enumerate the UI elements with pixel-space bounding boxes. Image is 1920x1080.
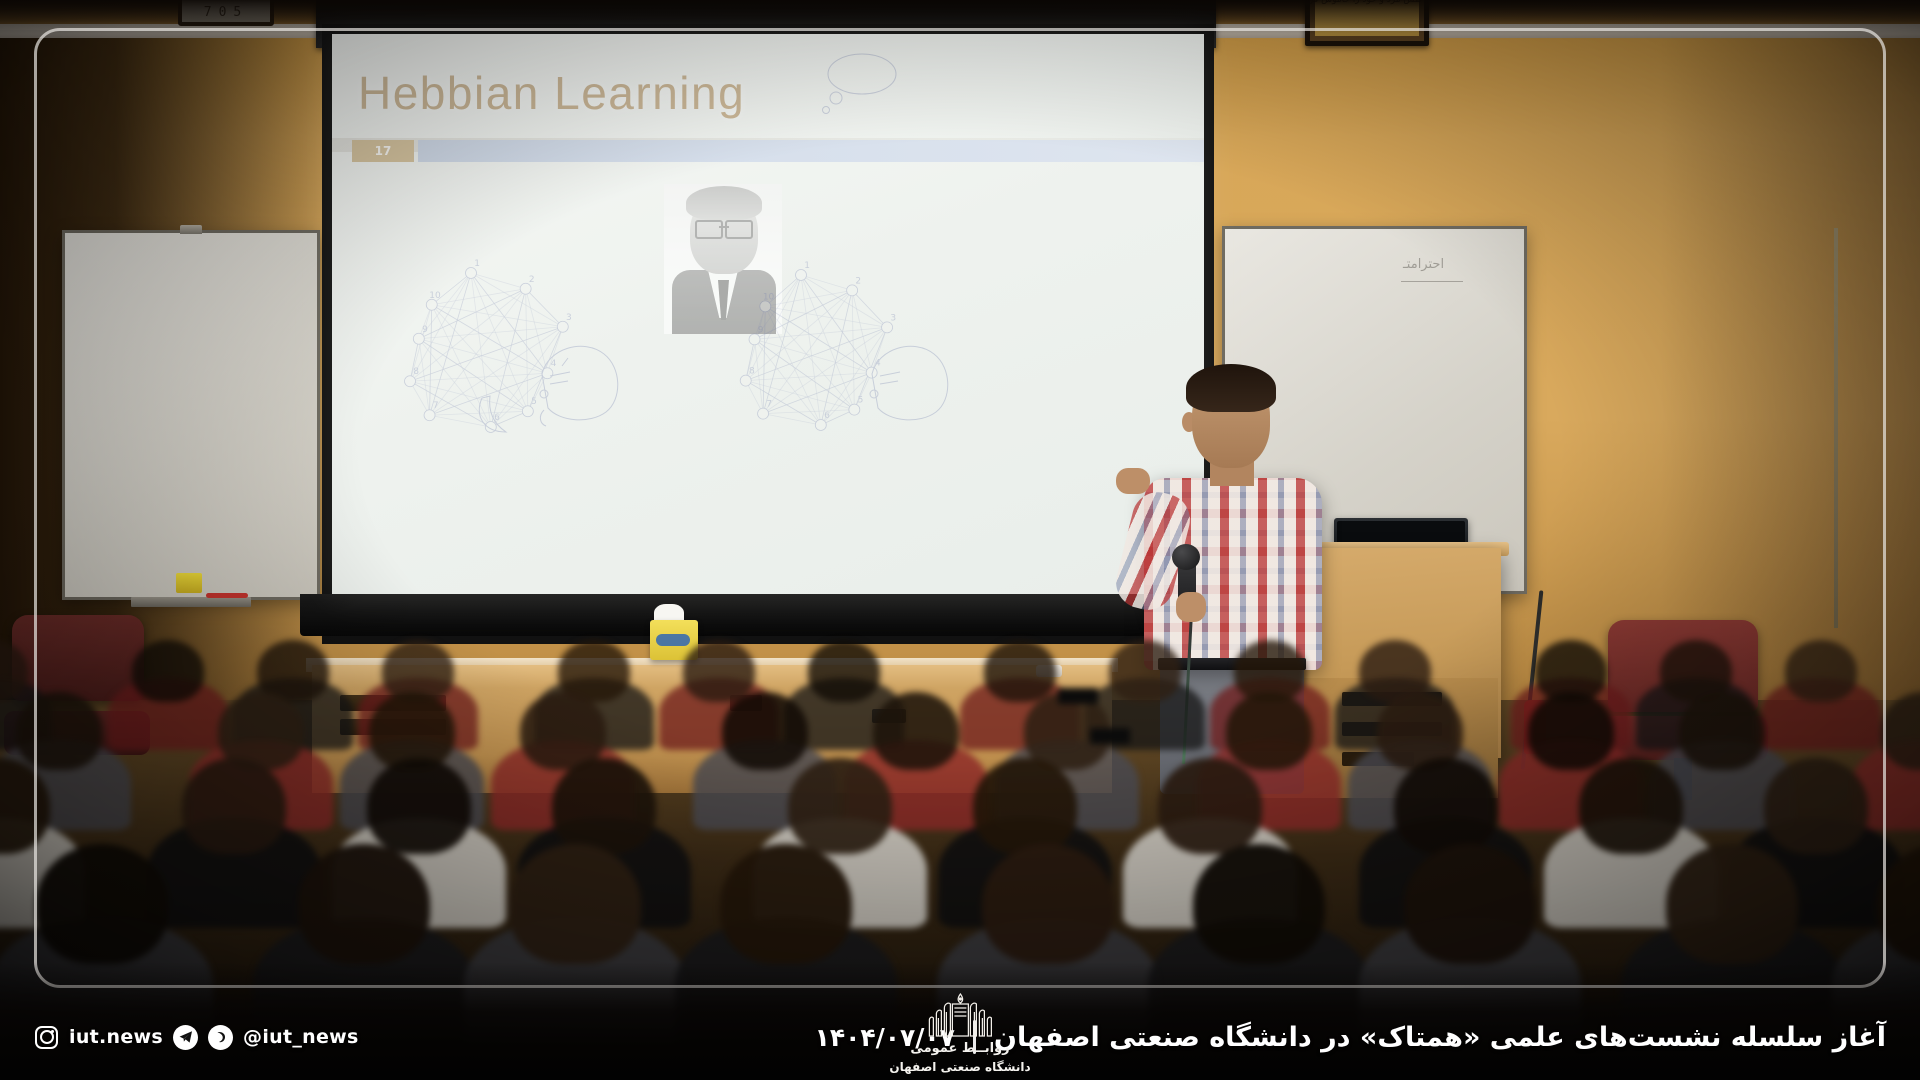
audience-head xyxy=(298,844,430,964)
svg-text:9: 9 xyxy=(422,325,428,335)
network-left: 12345678910 xyxy=(405,259,572,433)
telegram-glyph xyxy=(178,1029,194,1045)
svg-text:1: 1 xyxy=(804,261,810,271)
svg-text:7: 7 xyxy=(766,400,772,410)
svg-text:3: 3 xyxy=(890,313,896,323)
svg-text:8: 8 xyxy=(749,367,755,377)
audience-head xyxy=(1579,758,1683,854)
audience-head xyxy=(1394,758,1498,854)
gateway-svg xyxy=(924,992,996,1038)
neural-network-diagrams: 12345678910 12345678910 xyxy=(332,34,1204,594)
audience-head xyxy=(1528,692,1614,770)
audience-head xyxy=(984,640,1056,702)
iut-gateway-icon xyxy=(924,992,996,1038)
slide-surface: Hebbian Learning 17 xyxy=(332,34,1204,594)
wall-clock-icon: 705 xyxy=(178,0,274,26)
audience-head xyxy=(720,844,852,964)
caption-headline: آغاز سلسله نشست‌های علمی «همتاک» در دانش… xyxy=(994,1022,1886,1053)
svg-text:4: 4 xyxy=(551,359,557,369)
plaque-inner: ادب نفس مرد و خود را خاموش فرماید xyxy=(1315,0,1419,36)
logo-line-2: دانشگاه صنعتی اصفهان xyxy=(889,1060,1030,1074)
logo-line-1: روابــط عمومی xyxy=(910,1041,1009,1056)
caption-bar: آغاز سلسله نشست‌های علمی «همتاک» در دانش… xyxy=(0,994,1920,1080)
audience-head xyxy=(132,640,204,702)
audience-head xyxy=(683,640,755,702)
audience-head xyxy=(509,844,641,964)
audience-head xyxy=(552,758,656,854)
whiteboard-note-underline xyxy=(1401,281,1463,282)
audience-head xyxy=(808,640,880,702)
public-relations-logo: روابــط عمومی دانشگاه صنعتی اصفهان xyxy=(889,992,1030,1074)
instagram-icon[interactable] xyxy=(34,1025,59,1050)
projected-slide: Hebbian Learning 17 xyxy=(332,34,1204,594)
photo-canvas: 705 ادب نفس مرد و خود را خاموش فرماید اح… xyxy=(0,0,1920,1080)
microphone-head-icon xyxy=(1172,544,1200,570)
svg-text:5: 5 xyxy=(858,396,864,406)
audience-head xyxy=(1764,758,1868,854)
audience-head xyxy=(1666,844,1798,964)
audience-head xyxy=(722,692,808,770)
desk-vent-slot xyxy=(1090,728,1130,744)
audience-head xyxy=(1109,640,1181,702)
audience-head xyxy=(1785,640,1857,702)
desk-vent-slot xyxy=(1058,688,1098,704)
presenter-hair xyxy=(1186,364,1276,412)
social-links-group: iut.news @iut_news xyxy=(34,1025,359,1050)
svg-text:5: 5 xyxy=(531,397,537,407)
plaque-text: ادب نفس مرد و خود را خاموش فرماید xyxy=(1305,0,1429,5)
audience-head xyxy=(367,758,471,854)
audience-head xyxy=(1158,758,1262,854)
potted-ficus-plant xyxy=(1738,218,1920,648)
audience-head xyxy=(16,692,102,770)
network-svg: 12345678910 12345678910 xyxy=(332,34,1204,594)
svg-text:6: 6 xyxy=(824,411,830,421)
plant-stem xyxy=(1834,228,1838,628)
messenger-handle[interactable]: @iut_news xyxy=(243,1026,359,1048)
whiteboard-tray xyxy=(131,597,251,607)
audience-head xyxy=(1404,844,1536,964)
whiteboard-note: احترامتـ xyxy=(1403,257,1444,272)
audience-head xyxy=(182,758,286,854)
presenter-mic-hand xyxy=(1176,592,1206,622)
presenter-gesturing-hand xyxy=(1116,468,1150,494)
audience-head xyxy=(1679,692,1765,770)
svg-text:1: 1 xyxy=(474,259,480,269)
audience-head xyxy=(788,758,892,854)
head-sketch-right xyxy=(870,346,948,420)
clock-reading: 705 xyxy=(204,5,248,20)
whiteboard-hook xyxy=(180,225,202,234)
bale-icon[interactable] xyxy=(208,1025,233,1050)
svg-text:10: 10 xyxy=(763,292,775,302)
audience-head xyxy=(873,692,959,770)
svg-text:10: 10 xyxy=(429,291,441,301)
svg-text:2: 2 xyxy=(855,276,861,286)
instagram-handle[interactable]: iut.news xyxy=(69,1026,163,1048)
network-right: 12345678910 xyxy=(740,261,896,431)
audience-head xyxy=(1193,844,1325,964)
audience-head xyxy=(1226,692,1312,770)
svg-text:8: 8 xyxy=(413,367,419,377)
svg-text:2: 2 xyxy=(529,275,535,285)
bale-glyph xyxy=(213,1029,229,1045)
telegram-icon[interactable] xyxy=(173,1025,198,1050)
whiteboard-eraser xyxy=(176,573,202,593)
svg-text:7: 7 xyxy=(433,401,439,411)
audience-head xyxy=(973,758,1077,854)
whiteboard-marker xyxy=(206,593,248,598)
whiteboard-left xyxy=(62,230,320,600)
svg-text:9: 9 xyxy=(758,325,764,335)
audience-head xyxy=(36,844,168,964)
thought-bubble-right xyxy=(823,54,897,114)
audience-head xyxy=(982,844,1114,964)
svg-text:3: 3 xyxy=(566,313,572,323)
framed-calligraphy-plaque: ادب نفس مرد و خود را خاموش فرماید xyxy=(1305,0,1429,46)
